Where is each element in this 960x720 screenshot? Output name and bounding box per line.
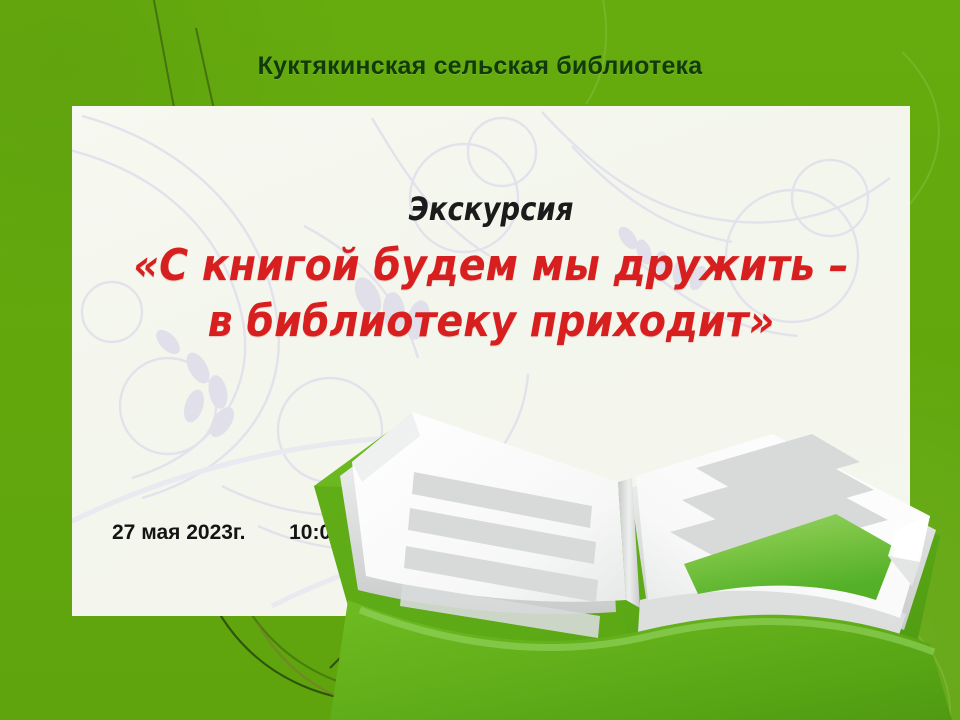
page-title: Куктякинская сельская библиотека (0, 52, 960, 81)
event-quote-line-2: в библиотеку приходит» (114, 296, 868, 347)
slide-canvas: Куктякинская сельская библиотека (0, 0, 960, 720)
event-time: 10:00 (289, 521, 343, 544)
event-quote-line-1: «С книгой будем мы дружить – (114, 240, 868, 291)
event-date: 27 мая 2023г. (112, 521, 245, 544)
content-panel: Экскурсия «С книгой будем мы дружить – в… (72, 106, 910, 616)
event-datetime: 27 мая 2023г. 10:00 (112, 521, 343, 545)
event-kicker: Экскурсия (131, 190, 852, 228)
